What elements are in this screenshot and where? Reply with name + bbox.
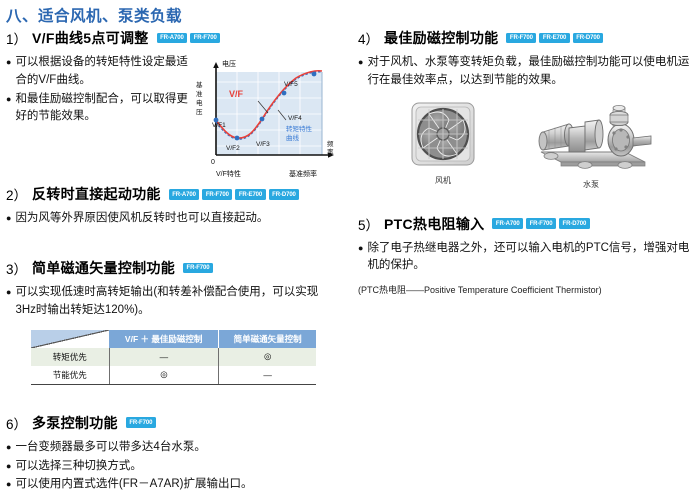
section-4: 4） 最佳励磁控制功能 FR-F700 FR-E700 FR-D700 ● 对于… [358,28,690,196]
table-cell: — [109,348,219,366]
table-row: 转矩优先 — ◎ [31,348,316,366]
section-3: 3） 简单磁通矢量控制功能 FR-F700 ● 可以实现低速时高转矩输出(和转差… [6,258,344,385]
vf-series-label: V/F [229,89,244,99]
list-item: ● 一台变频器最多可以带多达4台水泵。 [6,439,344,457]
list-item: ● 可以选择三种切换方式。 [6,458,344,476]
list-item-text: 可以使用内置式选件(FR－A7AR)扩展输出口。 [15,476,344,494]
section-2-title: 反转时直接起动功能 [32,184,161,204]
section-4-bullets: ● 对于风机、水泵等变转矩负载，最佳励磁控制功能可以使电机运行在最佳效率点，以达… [358,54,690,90]
table-cell: ◎ [219,348,316,366]
vf-curve-chart: V/F V/F1 V/F2 V/F3 V/F4 V/F5 转矩特性 曲线 电压 … [192,54,338,186]
section-5-number: 5） [358,214,379,234]
badge-model: FR-A700 [157,33,188,44]
fan-icon [409,100,477,168]
section-3-number: 3） [6,258,27,278]
section-6-badges: FR-F700 [126,417,156,428]
section-5-bullets: ● 除了电子热继电器之外，还可以输入电机的PTC信号，增强对电机的保护。 [358,240,690,276]
section-4-title: 最佳励磁控制功能 [384,28,498,48]
table-corner-cell [31,330,109,348]
section-1-title: V/F曲线5点可调整 [32,28,149,48]
badge-model: FR-A700 [492,218,523,229]
list-item: ● 因为风等外界原因使风机反转时也可以直接起动。 [6,210,344,228]
list-item: ● 和最佳励磁控制配合，可以取得更好的节能效果。 [6,91,194,127]
table-header-row: V/F ＋ 最佳励磁控制 简单磁通矢量控制 [31,330,316,348]
section-6-bullets: ● 一台变频器最多可以带多达4台水泵。 ● 可以选择三种切换方式。 ● 可以使用… [6,439,344,494]
list-item-text: 可以根据设备的转矩特性设定最适合的V/F曲线。 [15,54,194,90]
fan-caption: 风机 [406,175,480,186]
section-2-bullets: ● 因为风等外界原因使风机反转时也可以直接起动。 [6,210,344,228]
table-row: 节能优先 ◎ — [31,366,316,385]
section-6-heading: 6） 多泵控制功能 FR-F700 [6,413,344,433]
bullet-dot-icon: ● [6,210,11,228]
data-point-vf2 [235,136,240,141]
list-item-text: 可以实现低速时高转矩输出(和转差补偿配合使用，可以实现3Hz时输出转矩达120%… [15,284,336,320]
section-4-number: 4） [358,28,379,48]
table-cell: ◎ [109,366,219,385]
list-item: ● 可以使用内置式选件(FR－A7AR)扩展输出口。 [6,476,344,494]
table-row-label: 节能优先 [31,366,109,385]
table-cell: — [219,366,316,385]
ptc-footnote: (PTC热电阻——Positive Temperature Coefficien… [358,283,690,296]
section-4-heading: 4） 最佳励磁控制功能 FR-F700 FR-E700 FR-D700 [358,28,690,48]
list-item: ● 可以实现低速时高转矩输出(和转差补偿配合使用，可以实现3Hz时输出转矩达12… [6,284,336,320]
point-label-vf5: V/F5 [284,81,298,88]
data-point-vf3 [260,117,265,122]
section-3-heading: 3） 简单磁通矢量控制功能 FR-F700 [6,258,344,278]
pump-icon [529,102,653,172]
list-item-text: 一台变频器最多可以带多达4台水泵。 [15,439,344,457]
badge-model: FR-E700 [539,33,569,44]
badge-model: FR-F700 [202,189,232,200]
y-axis-note-char-2: 准 [196,89,203,98]
badge-model: FR-A700 [169,189,200,200]
y-axis-note-char-3: 电 [196,98,203,107]
list-item: ● 可以根据设备的转矩特性设定最适合的V/F曲线。 [6,54,194,90]
point-label-vf2: V/F2 [226,145,240,152]
badge-model: FR-F700 [183,263,213,274]
page-title: 八、适合风机、泵类负载 [6,4,182,26]
y-axis-note-char-1: 基 [196,80,203,89]
origin-label: 0 [211,159,215,166]
section-2-heading: 2） 反转时直接起动功能 FR-A700 FR-F700 FR-E700 FR-… [6,184,344,204]
badge-model: FR-F700 [190,33,220,44]
pump-figure: 水泵 [526,102,656,190]
data-point-vf5 [312,72,317,77]
table-head: V/F ＋ 最佳励磁控制 简单磁通矢量控制 [31,330,316,348]
section-1-badges: FR-A700 FR-F700 [157,33,221,44]
y-axis-title: 电压 [222,59,236,68]
data-point-vf4 [282,91,287,96]
section-6-number: 6） [6,413,27,433]
section-5-badges: FR-A700 FR-F700 FR-D700 [492,218,589,229]
section-5-heading: 5） PTC热电阻输入 FR-A700 FR-F700 FR-D700 [358,214,690,234]
section-4-badges: FR-F700 FR-E700 FR-D700 [506,33,603,44]
torque-curve-label-line2: 曲线 [286,133,300,142]
bullet-dot-icon: ● [358,240,363,276]
table-column-header: 简单磁通矢量控制 [219,330,316,348]
list-item-text: 对于风机、水泵等变转矩负载，最佳励磁控制功能可以使电机运行在最佳效率点，以达到节… [367,54,690,90]
pump-caption: 水泵 [526,179,656,190]
list-item-text: 除了电子热继电器之外，还可以输入电机的PTC信号，增强对电机的保护。 [367,240,690,276]
badge-model: FR-D700 [573,33,604,44]
comparison-table: V/F ＋ 最佳励磁控制 简单磁通矢量控制 转矩优先 — ◎ 节能优先 ◎ — [31,330,316,385]
x-axis-title-line2: 率 [327,147,334,156]
section-3-title: 简单磁通矢量控制功能 [32,258,175,278]
badge-model: FR-F700 [126,417,156,428]
badge-model: FR-E700 [235,189,265,200]
y-axis-arrow-icon [213,62,219,68]
y-axis-note-char-4: 压 [196,108,203,116]
bullet-dot-icon: ● [6,439,11,457]
section-3-badges: FR-F700 [183,263,213,274]
badge-model: FR-F700 [526,218,556,229]
section-5-title: PTC热电阻输入 [384,214,484,234]
section-2-number: 2） [6,184,27,204]
section-2-badges: FR-A700 FR-F700 FR-E700 FR-D700 [169,189,300,200]
list-item: ● 对于风机、水泵等变转矩负载，最佳励磁控制功能可以使电机运行在最佳效率点，以达… [358,54,690,90]
vf-curve-svg: V/F V/F1 V/F2 V/F3 V/F4 V/F5 转矩特性 曲线 电压 … [192,54,338,186]
section-1-heading: 1） V/F曲线5点可调整 FR-A700 FR-F700 [6,28,344,48]
bullet-dot-icon: ● [6,284,11,320]
equipment-illustrations: 风机 [358,100,690,196]
section-2: 2） 反转时直接起动功能 FR-A700 FR-F700 FR-E700 FR-… [6,184,344,228]
x-axis-title-line1: 频 [327,139,334,148]
bullet-dot-icon: ● [6,476,11,494]
bullet-dot-icon: ● [358,54,363,90]
list-item-text: 可以选择三种切换方式。 [15,458,344,476]
torque-curve-label-line1: 转矩特性 [286,124,313,133]
section-3-bullets: ● 可以实现低速时高转矩输出(和转差补偿配合使用，可以实现3Hz时输出转矩达12… [6,284,336,320]
badge-model: FR-F700 [506,33,536,44]
point-label-vf4: V/F4 [288,115,302,122]
document-page: 八、适合风机、泵类负载 1） V/F曲线5点可调整 FR-A700 FR-F70… [0,0,694,499]
section-5: 5） PTC热电阻输入 FR-A700 FR-F700 FR-D700 ● 除了… [358,214,690,297]
bullet-dot-icon: ● [6,458,11,476]
point-label-vf1: V/F1 [212,122,226,129]
section-6: 6） 多泵控制功能 FR-F700 ● 一台变频器最多可以带多达4台水泵。 ● … [6,413,344,494]
list-item: ● 除了电子热继电器之外，还可以输入电机的PTC信号，增强对电机的保护。 [358,240,690,276]
bullet-dot-icon: ● [6,54,11,90]
point-label-vf3: V/F3 [256,141,270,148]
bullet-dot-icon: ● [6,91,11,127]
section-6-title: 多泵控制功能 [32,413,118,433]
section-1-bullets: ● 可以根据设备的转矩特性设定最适合的V/F曲线。 ● 和最佳励磁控制配合，可以… [6,54,194,126]
fan-figure: 风机 [406,100,480,186]
table-column-header: V/F ＋ 最佳励磁控制 [109,330,219,348]
badge-model: FR-D700 [559,218,590,229]
section-1-number: 1） [6,28,27,48]
x-axis-left-label: V/F特性 [216,169,241,178]
table-body: 转矩优先 — ◎ 节能优先 ◎ — [31,348,316,385]
diagonal-divider-icon [31,330,109,348]
list-item-text: 因为风等外界原因使风机反转时也可以直接起动。 [15,210,344,228]
list-item-text: 和最佳励磁控制配合，可以取得更好的节能效果。 [15,91,194,127]
x-axis-right-label: 基准频率 [289,169,317,178]
right-column: 4） 最佳励磁控制功能 FR-F700 FR-E700 FR-D700 ● 对于… [358,28,690,296]
table-row-label: 转矩优先 [31,348,109,366]
badge-model: FR-D700 [269,189,300,200]
